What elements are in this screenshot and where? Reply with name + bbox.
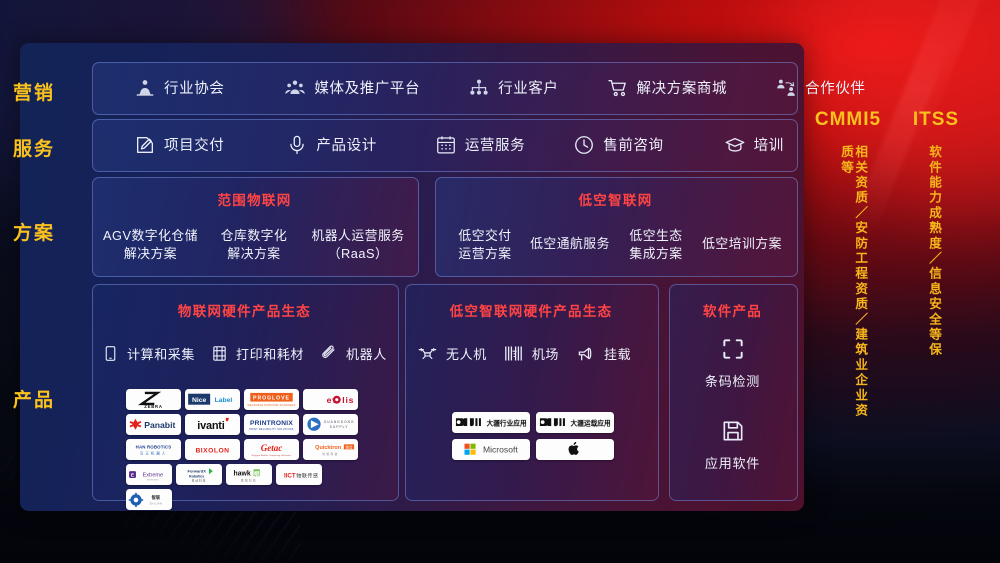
logo-hanrobotics[interactable]: HAN ROBOTICS汉王机器人: [126, 439, 181, 460]
product-category-label: 无人机: [446, 344, 487, 363]
logo-zebra[interactable]: ZEBRA: [126, 389, 181, 410]
svg-text:大疆行业应用: 大疆行业应用: [487, 419, 527, 428]
tablet-device-icon: [102, 345, 119, 362]
product-category-payload[interactable]: 挂载: [575, 343, 631, 364]
row-label-solution: 方案: [0, 218, 68, 245]
svg-text:Extreme: Extreme: [143, 472, 163, 478]
svg-text:物联传感: 物联传感: [296, 472, 318, 479]
graduation-cap-icon: [724, 134, 746, 156]
service-item-label: 产品设计: [316, 134, 376, 155]
logo-getac[interactable]: GetacRugged Mobile Computing Solutions: [244, 439, 299, 460]
service-item-project-delivery[interactable]: 项目交付: [134, 134, 224, 156]
logo-extreme[interactable]: EExtremeNETWORKS: [126, 464, 172, 485]
svg-text:PROGLOVE: PROGLOVE: [253, 396, 290, 402]
airport-icon: [503, 343, 524, 364]
svg-text:BIXOLON: BIXOLON: [195, 448, 229, 455]
printer-icon: [211, 345, 228, 362]
cert-vertical-text-itss: 软件能力成熟度／信息安全等保: [927, 145, 941, 431]
logo-nicelabel[interactable]: NiceLabel: [185, 389, 240, 410]
svg-text:WEARABLE BARCODE SCANNERS: WEARABLE BARCODE SCANNERS: [247, 404, 295, 407]
microphone-icon: [286, 134, 308, 156]
row-label-service: 服务: [0, 134, 68, 161]
product-category-label: 打印和耗材: [236, 344, 304, 363]
logo-dji-transport[interactable]: 大疆运载应用: [536, 412, 614, 433]
svg-text:大疆运载应用: 大疆运载应用: [571, 419, 611, 428]
svg-text:hawk: hawk: [234, 470, 251, 477]
solution-item[interactable]: 低空交付运营方案: [449, 227, 521, 263]
marketing-item-industry-customer[interactable]: 行业客户: [468, 77, 558, 99]
logo-panabit[interactable]: Panabit: [126, 414, 181, 435]
industry-association-icon: [134, 77, 156, 99]
paperclip-robot-icon: [320, 344, 338, 362]
certification-band: CMMI5 相关资质／安防工程资质／建筑业企业资质等 ITSS 软件能力成熟度／…: [804, 43, 1000, 511]
service-items: 项目交付 产品设计 运营服务 售前咨询 培训: [92, 119, 796, 170]
shopping-cart-icon: [607, 77, 629, 99]
product-group-lowaltitude-title: 低空智联网硬件产品生态: [405, 300, 657, 320]
marketing-item-media-promotion[interactable]: 媒体及推广平台: [284, 77, 420, 99]
svg-text:灵动科技: 灵动科技: [192, 478, 207, 482]
partner-handshake-icon: [775, 77, 797, 99]
marketing-item-label: 解决方案商城: [637, 77, 728, 98]
barcode-scan-icon: [720, 336, 746, 362]
marketing-item-solution-mall[interactable]: 解决方案商城: [607, 77, 728, 99]
service-item-presales[interactable]: 售前咨询: [573, 134, 663, 156]
logo-printronix[interactable]: PRINTRONIXPRINT RELIABILITY SOLUTIONS: [244, 414, 299, 435]
product-category-compute[interactable]: 计算和采集: [102, 344, 195, 363]
cert-title-cmmi5: CMMI5: [804, 109, 892, 131]
svg-text:ZHILIAN: ZHILIAN: [150, 502, 163, 505]
svg-text:智联: 智联: [152, 494, 161, 501]
slide-canvas: 营销 服务 方案 产品 行业协会 媒体及推广平台 行业客户 解决方案商城 合作伙…: [0, 0, 1000, 563]
logo-forwardx[interactable]: ForwardXRobotics灵动科技: [176, 464, 222, 485]
media-promotion-icon: [284, 77, 306, 99]
logo-apple[interactable]: [536, 439, 614, 460]
service-item-label: 售前咨询: [603, 134, 663, 155]
service-item-operation[interactable]: 运营服务: [435, 134, 525, 156]
industry-customer-icon: [468, 77, 490, 99]
logo-gs[interactable]: GUANGDONGSUPPLY: [303, 414, 358, 435]
svg-text:HAN ROBOTICS: HAN ROBOTICS: [136, 445, 172, 450]
product-category-robot[interactable]: 机器人: [320, 344, 387, 363]
payload-icon: [575, 343, 596, 364]
svg-text:ForwardX: ForwardX: [188, 468, 207, 473]
svg-text:Robotics: Robotics: [189, 474, 204, 478]
marketing-items: 行业协会 媒体及推广平台 行业客户 解决方案商城 合作伙伴: [92, 62, 796, 113]
product-group-iot-title: 物联网硬件产品生态: [92, 300, 397, 320]
marketing-item-label: 行业客户: [498, 77, 558, 98]
product-iot-categories: 计算和采集 打印和耗材 机器人: [100, 340, 395, 366]
svg-text:Nice: Nice: [192, 397, 207, 404]
logo-ivanti[interactable]: ivanti: [185, 414, 240, 435]
svg-text:Quicktron: Quicktron: [315, 445, 342, 451]
svg-text:NETWORKS: NETWORKS: [147, 479, 159, 481]
drone-icon: [417, 343, 438, 364]
svg-text:鹰眼科技: 鹰眼科技: [241, 478, 257, 482]
software-item-label: 应用软件: [669, 453, 796, 472]
logo-quicktron[interactable]: Quicktron快仓智能科技: [303, 439, 358, 460]
logo-dji-industry[interactable]: 大疆行业应用: [452, 412, 530, 433]
marketing-item-label: 行业协会: [164, 77, 224, 98]
logo-proglove[interactable]: PROGLOVEWEARABLE BARCODE SCANNERS: [244, 389, 299, 410]
service-item-product-design[interactable]: 产品设计: [286, 134, 376, 156]
svg-text:PRINTRONIX: PRINTRONIX: [250, 420, 293, 427]
logo-microsoft[interactable]: Microsoft: [452, 439, 530, 460]
solution-item[interactable]: AGV数字化仓储解决方案: [98, 227, 203, 263]
clock-icon: [573, 134, 595, 156]
logo-bixolon[interactable]: BIXOLON: [185, 439, 240, 460]
svg-text:汉王机器人: 汉王机器人: [140, 451, 167, 456]
product-category-drone[interactable]: 无人机: [417, 343, 487, 364]
service-item-label: 项目交付: [164, 134, 224, 155]
solution-item[interactable]: 低空培训方案: [696, 235, 788, 253]
svg-text:SUPPLY: SUPPLY: [330, 425, 349, 429]
row-label-product: 产品: [0, 385, 68, 412]
pencil-edit-icon: [134, 134, 156, 156]
product-category-label: 挂载: [604, 344, 631, 363]
svg-text:Rugged Mobile Computing Soluti: Rugged Mobile Computing Solutions: [252, 454, 291, 457]
svg-text:ivanti: ivanti: [197, 420, 224, 432]
cert-vertical-text-cmmi5: 相关资质／安防工程资质／建筑业企业资质等: [839, 145, 867, 431]
solution-item[interactable]: 仓库数字化解决方案: [210, 227, 298, 263]
svg-text:ZEBRA: ZEBRA: [144, 404, 163, 409]
software-item-barcode[interactable]: 条码检测: [669, 336, 796, 390]
svg-text:Getac: Getac: [261, 443, 283, 453]
calendar-icon: [435, 134, 457, 156]
logo-hawkeye[interactable]: hawk眼鹰眼科技: [226, 464, 272, 485]
logo-zhilian[interactable]: 智联ZHILIAN: [126, 489, 172, 510]
svg-text:快仓: 快仓: [345, 445, 353, 450]
partner-logo-grid: ZEBRA NiceLabel PROGLOVEWEARABLE BARCODE…: [126, 389, 368, 510]
svg-text:PRINT RELIABILITY SOLUTIONS: PRINT RELIABILITY SOLUTIONS: [249, 428, 293, 431]
svg-text:智能科技: 智能科技: [322, 452, 338, 456]
product-category-label: 计算和采集: [127, 344, 195, 363]
solution-group-lowaltitude-title: 低空智联网: [435, 189, 796, 209]
svg-text:lis: lis: [342, 395, 354, 405]
solution-item[interactable]: 低空通航服务: [524, 235, 616, 253]
svg-text:Microsoft: Microsoft: [483, 445, 518, 455]
svg-text:Panabit: Panabit: [144, 420, 175, 430]
row-label-marketing: 营销: [0, 78, 68, 105]
cert-title-itss: ITSS: [892, 109, 980, 131]
software-item-label: 条码检测: [669, 371, 796, 390]
product-category-label: 机器人: [346, 344, 387, 363]
product-category-airport[interactable]: 机场: [503, 343, 559, 364]
floppy-disk-icon: [720, 418, 746, 444]
lowaltitude-logo-grid: 大疆行业应用 大疆运载应用 Microsoft: [452, 412, 614, 460]
solution-item[interactable]: 机器人运营服务（RaaS）: [303, 227, 413, 263]
service-item-label: 运营服务: [465, 134, 525, 155]
marketing-item-label: 媒体及推广平台: [314, 77, 420, 98]
logo-evolis[interactable]: evlis: [303, 389, 358, 410]
service-item-label: 培训: [754, 134, 784, 155]
product-category-label: 机场: [532, 344, 559, 363]
svg-text:GUANGDONG: GUANGDONG: [324, 420, 355, 424]
product-category-printer[interactable]: 打印和耗材: [211, 344, 304, 363]
product-lowaltitude-categories: 无人机 机场 挂载: [415, 340, 655, 366]
svg-text:IICT: IICT: [284, 472, 296, 479]
solution-item[interactable]: 低空生态集成方案: [620, 227, 692, 263]
marketing-item-industry-association[interactable]: 行业协会: [134, 77, 224, 99]
solution-group-iot-title: 范围物联网: [92, 189, 417, 209]
product-group-software-title: 软件产品: [669, 300, 796, 320]
svg-text:Label: Label: [215, 397, 233, 404]
software-item-application[interactable]: 应用软件: [669, 418, 796, 472]
logo-iict[interactable]: IICT物联传感: [276, 464, 322, 485]
service-item-training[interactable]: 培训: [724, 134, 784, 156]
